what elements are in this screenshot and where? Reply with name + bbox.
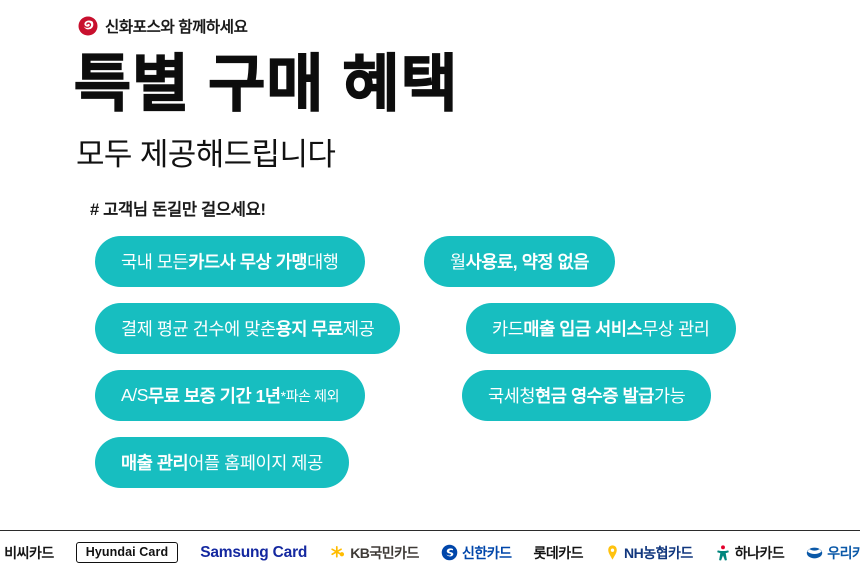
benefit-row: 결제 평균 건수에 맞춘 용지 무료 제공 카드 매출 입금 서비스 무상 관리 (0, 303, 860, 354)
benefit-text-part: 대행 (307, 249, 338, 274)
benefit-text-part: 현금 영수증 발급 (535, 383, 654, 408)
card-partner-hana-card: 하나카드 (715, 543, 785, 563)
card-partner-label: 우리카드 (827, 543, 860, 563)
benefit-pill-free-paper-supply: 결제 평균 건수에 맞춘 용지 무료 제공 (95, 303, 400, 354)
benefit-row: 국내 모든 카드사 무상 가맹 대행 월 사용료, 약정 없음 (0, 236, 860, 287)
benefit-text-part: 무상 관리 (642, 316, 709, 341)
brand-header: 신화포스와 함께하세요 (78, 15, 248, 37)
benefit-text-part: 결제 평균 건수에 맞춘 (121, 316, 276, 341)
benefit-text-part: 제공 (343, 316, 374, 341)
card-partner-lotte-card: 롯데카드 (533, 543, 583, 563)
samsung-card-icon: Samsung Card (200, 544, 307, 562)
page-title: 특별 구매 혜택 (74, 52, 459, 117)
benefit-pill-as-free-warranty-one-year: A/S 무료 보증 기간 1년 *파손 제외 (95, 370, 365, 421)
benefit-text-part: 카드 (492, 316, 523, 341)
benefit-text-part: 어플 홈페이지 제공 (188, 450, 323, 475)
card-partner-bc-card: 비씨카드 (0, 543, 54, 563)
benefit-text-part: 국세청 (488, 383, 535, 408)
card-partner-label: NH농협카드 (624, 543, 693, 563)
card-partner-nh-card: NH농협카드 (605, 543, 693, 563)
card-partner-label: KB국민카드 (350, 543, 419, 563)
card-partner-hyundai-card: Hyundai Card (76, 542, 178, 563)
card-partner-woori-card: 우리카드 (806, 543, 860, 563)
card-partner-samsung-card: Samsung Card (200, 544, 307, 562)
benefit-text-part: 무료 보증 기간 1년 (148, 383, 281, 408)
shinhan-swirl-icon (441, 544, 458, 561)
lotte-card-icon: 롯데카드 (533, 543, 583, 563)
benefit-text-part: 월 (450, 249, 466, 274)
nh-sprout-icon (605, 544, 620, 561)
woori-oval-icon (806, 546, 823, 560)
benefit-pill-cash-receipt-issuance: 국세청 현금 영수증 발급 가능 (462, 370, 711, 421)
kb-star-icon (329, 544, 346, 561)
benefit-text-part: A/S (121, 385, 148, 406)
page-subtitle: 모두 제공해드립니다 (76, 129, 335, 174)
hana-figure-icon (715, 544, 731, 562)
hyundai-card-icon: Hyundai Card (76, 542, 178, 563)
benefit-pill-card-sales-deposit-service: 카드 매출 입금 서비스 무상 관리 (466, 303, 736, 354)
benefit-text-part: 매출 관리 (121, 450, 188, 475)
benefit-text-part: 사용료, 약정 없음 (466, 249, 589, 274)
benefit-text-part: 매출 입금 서비스 (523, 316, 642, 341)
benefit-text-part: 카드사 무상 가맹 (188, 249, 307, 274)
hashtag-tagline: # 고객님 돈길만 걸으세요! (90, 196, 266, 220)
card-partner-label: 신한카드 (462, 543, 512, 563)
benefit-pill-card-company-free-affiliation: 국내 모든 카드사 무상 가맹 대행 (95, 236, 365, 287)
card-partner-label: 하나카드 (735, 543, 785, 563)
card-partner-strip: 비씨카드 Hyundai Card Samsung Card KB국민카드 신한… (0, 531, 860, 574)
benefit-text-part: 가능 (654, 383, 685, 408)
brand-name-text: 신화포스와 함께하세요 (105, 15, 248, 37)
benefit-text-part: 국내 모든 (121, 249, 188, 274)
benefit-pill-no-monthly-fee-no-contract: 월 사용료, 약정 없음 (424, 236, 615, 287)
benefit-pill-sales-management-app: 매출 관리 어플 홈페이지 제공 (95, 437, 349, 488)
shinhwa-spiral-logo-icon (78, 16, 98, 36)
card-partner-label: 비씨카드 (4, 543, 54, 563)
benefit-text-note: *파손 제외 (281, 386, 339, 406)
benefit-row: 매출 관리 어플 홈페이지 제공 (0, 437, 860, 488)
benefit-list: 국내 모든 카드사 무상 가맹 대행 월 사용료, 약정 없음 결제 평균 건수… (0, 236, 860, 504)
benefit-row: A/S 무료 보증 기간 1년 *파손 제외 국세청 현금 영수증 발급 가능 (0, 370, 860, 421)
card-partner-shinhan-card: 신한카드 (441, 543, 512, 563)
benefit-text-part: 용지 무료 (276, 316, 343, 341)
card-partner-kb-card: KB국민카드 (329, 543, 419, 563)
